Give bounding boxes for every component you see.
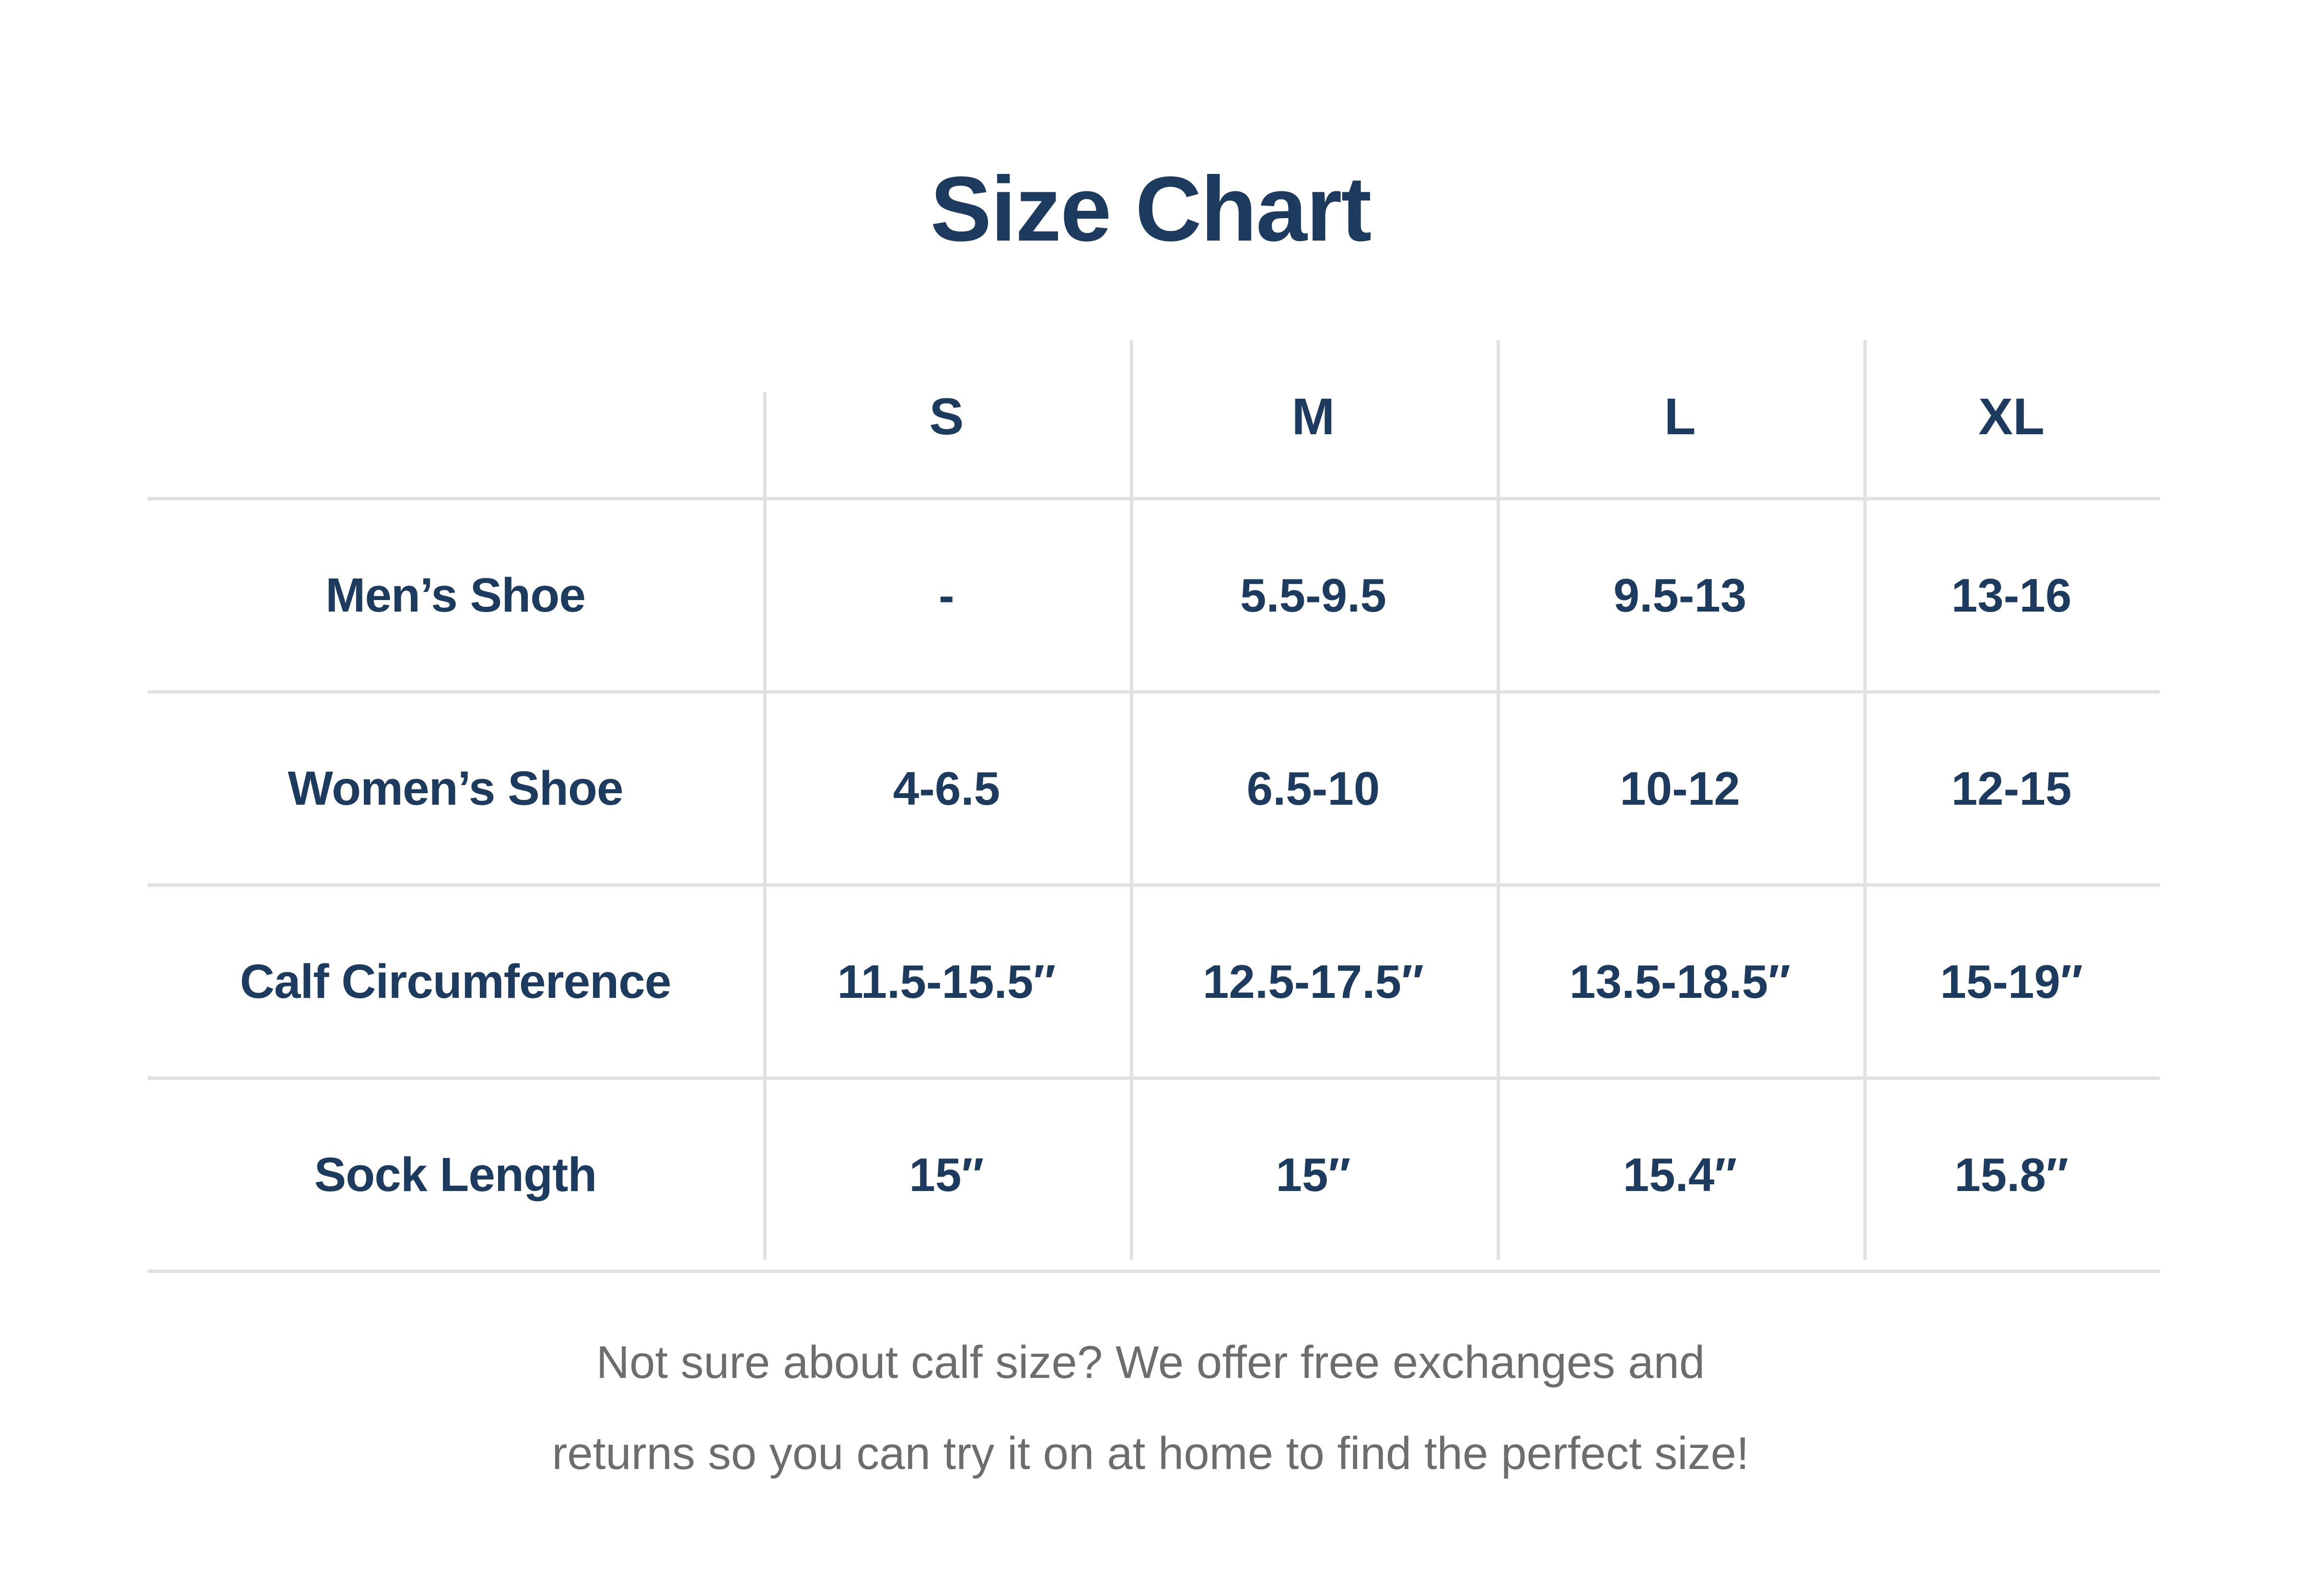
page-title: Size Chart	[0, 163, 2301, 255]
cell-mens-shoe-m: 5.5-9.5	[1130, 499, 1497, 692]
header-size-s: S	[763, 335, 1130, 499]
cell-sock-length-xl: 15.8″	[1863, 1078, 2160, 1272]
header-size-l: L	[1497, 335, 1863, 499]
cell-mens-shoe-l: 9.5-13	[1497, 499, 1863, 692]
size-chart-page: Size Chart S M L XL	[0, 0, 2301, 1596]
cell-womens-shoe-s: 4-6.5	[763, 692, 1130, 885]
cell-calf-circumference-s: 11.5-15.5″	[763, 885, 1130, 1078]
row-label-calf-circumference: Calf Circumference	[148, 885, 763, 1078]
header-size-m: M	[1130, 335, 1497, 499]
cell-calf-circumference-l: 13.5-18.5″	[1497, 885, 1863, 1078]
table-row: Women’s Shoe 4-6.5 6.5-10 10-12 12-15	[148, 692, 2160, 885]
cell-sock-length-l: 15.4″	[1497, 1078, 1863, 1272]
row-label-womens-shoe: Women’s Shoe	[148, 692, 763, 885]
exchange-policy-note-line-1: Not sure about calf size? We offer free …	[0, 1317, 2301, 1408]
table-header: S M L XL	[148, 335, 2160, 499]
column-divider-1	[763, 392, 767, 1260]
column-divider-2	[1130, 340, 1133, 1260]
cell-calf-circumference-xl: 15-19″	[1863, 885, 2160, 1078]
table-row: Sock Length 15″ 15″ 15.4″ 15.8″	[148, 1078, 2160, 1272]
row-label-sock-length: Sock Length	[148, 1078, 763, 1272]
exchange-policy-note: Not sure about calf size? We offer free …	[0, 1317, 2301, 1499]
cell-womens-shoe-l: 10-12	[1497, 692, 1863, 885]
exchange-policy-note-line-2: returns so you can try it on at home to …	[0, 1408, 2301, 1499]
cell-womens-shoe-m: 6.5-10	[1130, 692, 1497, 885]
column-divider-4	[1863, 340, 1867, 1260]
header-size-xl: XL	[1863, 335, 2160, 499]
size-chart-table: S M L XL Men’s Shoe - 5.5-9.5 9.5-13 13-…	[148, 335, 2160, 1273]
cell-sock-length-s: 15″	[763, 1078, 1130, 1272]
row-label-mens-shoe: Men’s Shoe	[148, 499, 763, 692]
size-chart-table-container: S M L XL Men’s Shoe - 5.5-9.5 9.5-13 13-…	[148, 335, 2160, 1260]
table-body: Men’s Shoe - 5.5-9.5 9.5-13 13-16 Women’…	[148, 499, 2160, 1272]
cell-calf-circumference-m: 12.5-17.5″	[1130, 885, 1497, 1078]
column-divider-3	[1497, 340, 1500, 1260]
cell-sock-length-m: 15″	[1130, 1078, 1497, 1272]
header-row-label-blank	[148, 335, 763, 499]
table-header-row: S M L XL	[148, 335, 2160, 499]
cell-womens-shoe-xl: 12-15	[1863, 692, 2160, 885]
table-row: Calf Circumference 11.5-15.5″ 12.5-17.5″…	[148, 885, 2160, 1078]
cell-mens-shoe-s: -	[763, 499, 1130, 692]
cell-mens-shoe-xl: 13-16	[1863, 499, 2160, 692]
table-row: Men’s Shoe - 5.5-9.5 9.5-13 13-16	[148, 499, 2160, 692]
